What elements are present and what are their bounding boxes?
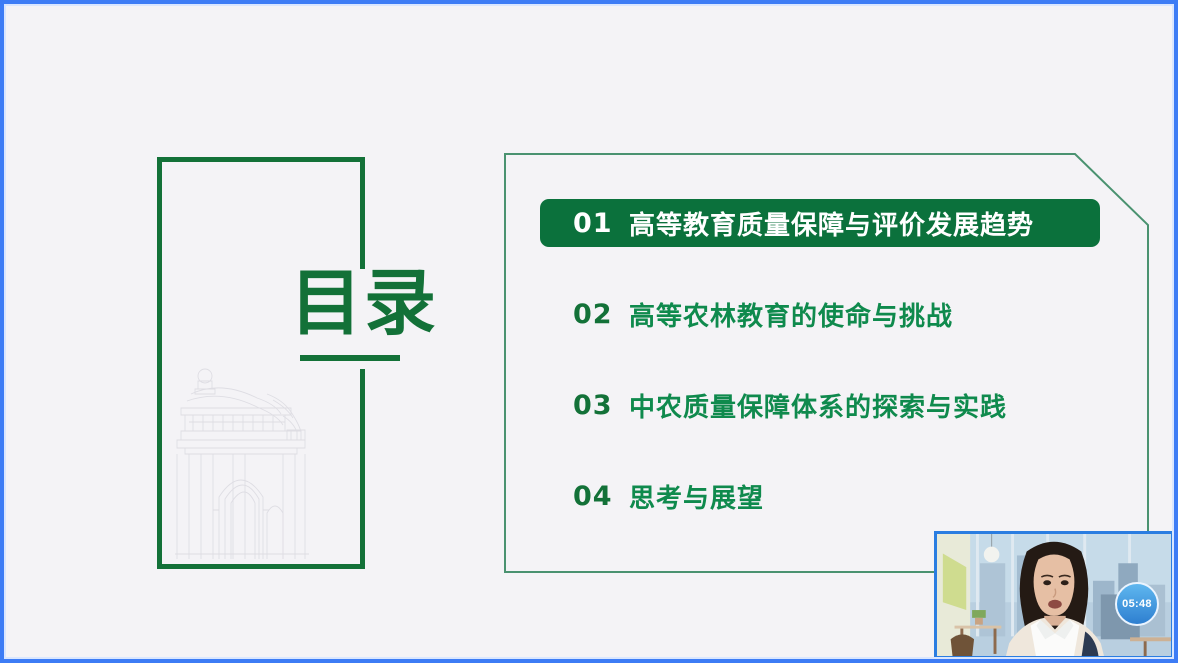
agenda-item-04[interactable]: 04 思考与展望 bbox=[540, 472, 1130, 520]
heading-underline-rule bbox=[300, 355, 400, 361]
agenda-item-02[interactable]: 02 高等农林教育的使命与挑战 bbox=[540, 290, 1130, 338]
frame-right-upper-edge bbox=[360, 157, 365, 269]
agenda-item-number: 03 bbox=[573, 390, 629, 421]
frame-left-edge bbox=[157, 157, 162, 569]
page-title: 目录 bbox=[290, 267, 460, 339]
agenda-item-number: 01 bbox=[573, 208, 629, 239]
agenda-item-number: 02 bbox=[573, 299, 629, 330]
presentation-slide: 目录 01 高等教育质量保障与评价发展趋势 02 高等农林教育的使命与挑战 03… bbox=[0, 0, 1178, 663]
agenda-panel: 01 高等教育质量保障与评价发展趋势 02 高等农林教育的使命与挑战 03 中农… bbox=[504, 153, 1149, 573]
agenda-item-title: 思考与展望 bbox=[629, 478, 764, 515]
frame-right-lower-edge bbox=[360, 369, 365, 569]
video-timer-badge: 05:48 bbox=[1115, 582, 1159, 626]
toc-decorative-frame bbox=[157, 157, 365, 569]
agenda-item-title: 高等教育质量保障与评价发展趋势 bbox=[629, 205, 1034, 242]
agenda-item-03[interactable]: 03 中农质量保障体系的探索与实践 bbox=[540, 381, 1130, 429]
agenda-list: 01 高等教育质量保障与评价发展趋势 02 高等农林教育的使命与挑战 03 中农… bbox=[540, 199, 1130, 563]
archway-watermark-icon bbox=[171, 360, 351, 565]
presenter-video-overlay[interactable]: 05:48 bbox=[934, 531, 1174, 659]
agenda-item-01[interactable]: 01 高等教育质量保障与评价发展趋势 bbox=[540, 199, 1100, 247]
agenda-item-title: 高等农林教育的使命与挑战 bbox=[629, 296, 953, 333]
frame-bottom-edge bbox=[157, 564, 365, 569]
toc-heading-group: 目录 bbox=[290, 267, 460, 339]
agenda-item-number: 04 bbox=[573, 481, 629, 512]
agenda-item-title: 中农质量保障体系的探索与实践 bbox=[629, 387, 1007, 424]
frame-top-edge bbox=[157, 157, 365, 162]
